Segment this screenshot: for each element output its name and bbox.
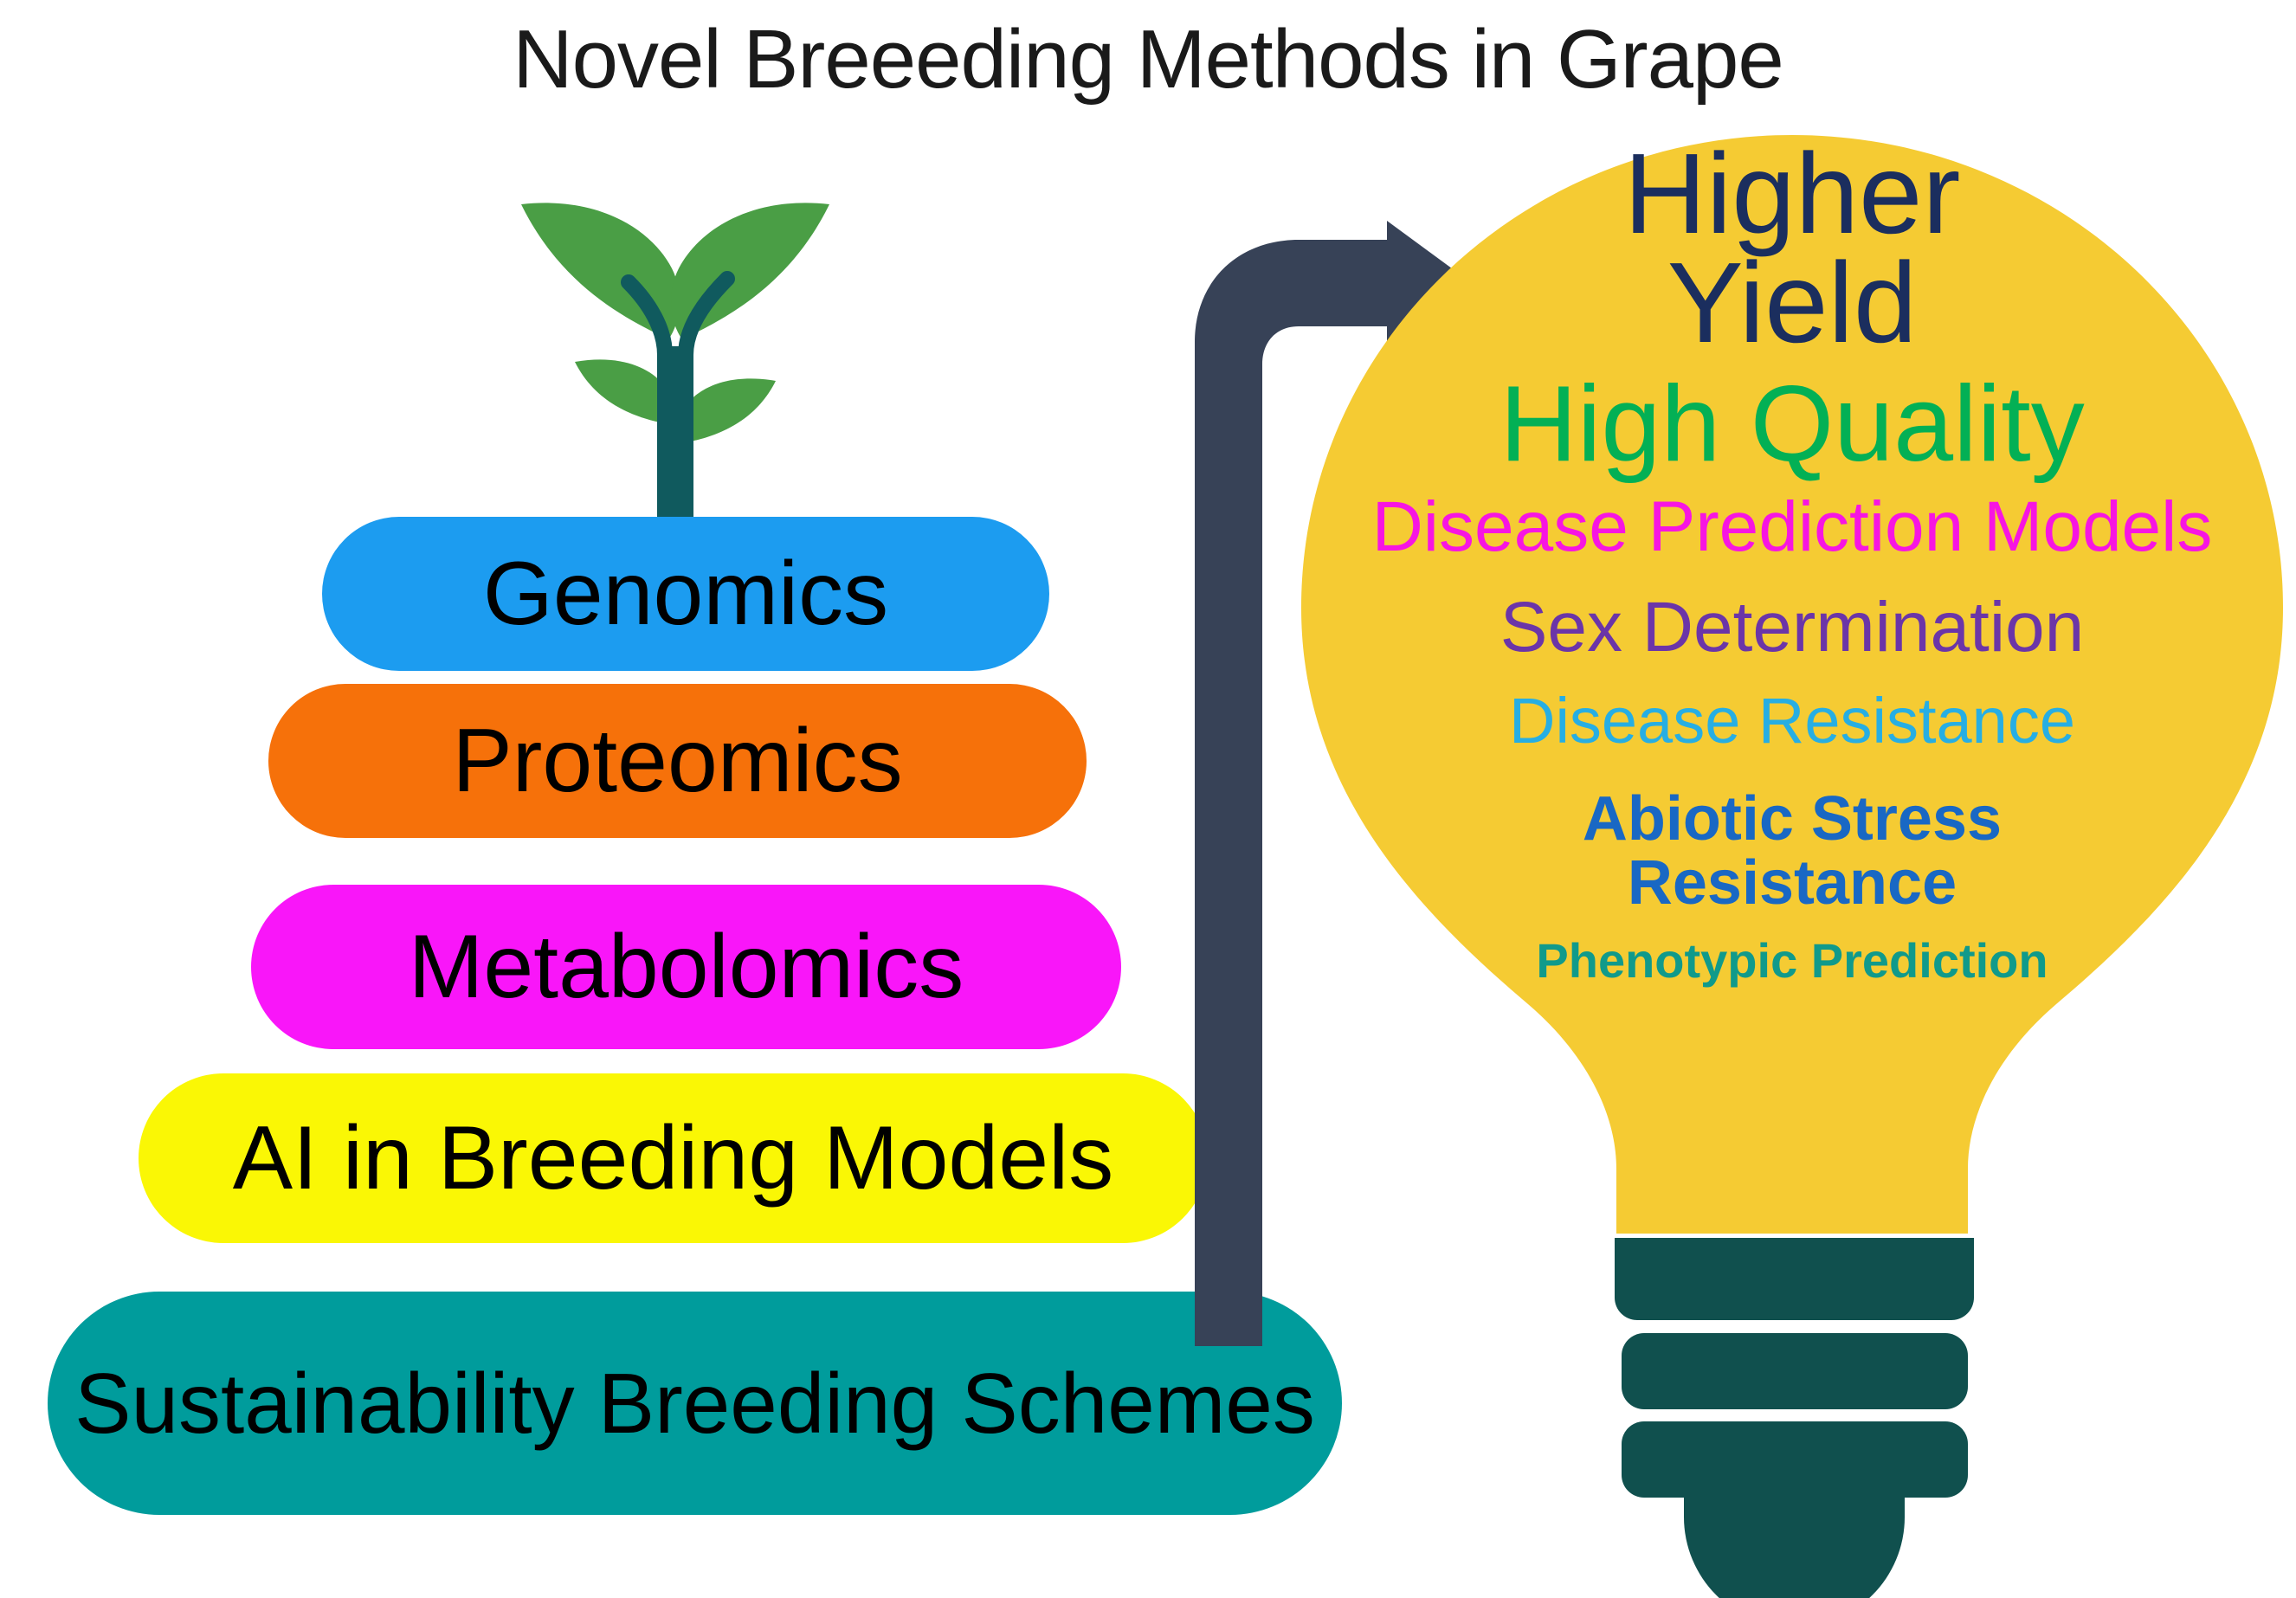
bulb-glass-shape xyxy=(1294,130,2290,1234)
method-label: Proteomics xyxy=(452,716,902,806)
bulb-base-ring-1 xyxy=(1622,1333,1968,1409)
bulb-base-collar xyxy=(1615,1238,1974,1320)
method-pill-sustainability-breeding-schemes[interactable]: Sustainability Breeding Schemes xyxy=(48,1292,1342,1515)
method-label: Sustainability Breeding Schemes xyxy=(74,1361,1315,1446)
method-label: Genomics xyxy=(483,549,888,639)
method-label: AI in Breeding Models xyxy=(233,1113,1113,1203)
page-title: Novel Breeeding Methods in Grape xyxy=(0,12,2296,107)
seedling-plant-icon xyxy=(468,139,883,545)
infographic-canvas: Novel Breeeding Methods in Grape Genomic… xyxy=(0,0,2296,1598)
method-pill-ai-in-breeding-models[interactable]: AI in Breeding Models xyxy=(139,1073,1208,1243)
light-bulb-icon: Higher Yield High Quality Disease Predic… xyxy=(1294,130,2290,1598)
method-pill-proteomics[interactable]: Proteomics xyxy=(268,684,1087,838)
method-label: Metabolomics xyxy=(409,922,964,1012)
method-pill-metabolomics[interactable]: Metabolomics xyxy=(251,885,1121,1049)
method-pill-genomics[interactable]: Genomics xyxy=(322,517,1049,671)
bulb-base-tip xyxy=(1684,1463,1905,1598)
